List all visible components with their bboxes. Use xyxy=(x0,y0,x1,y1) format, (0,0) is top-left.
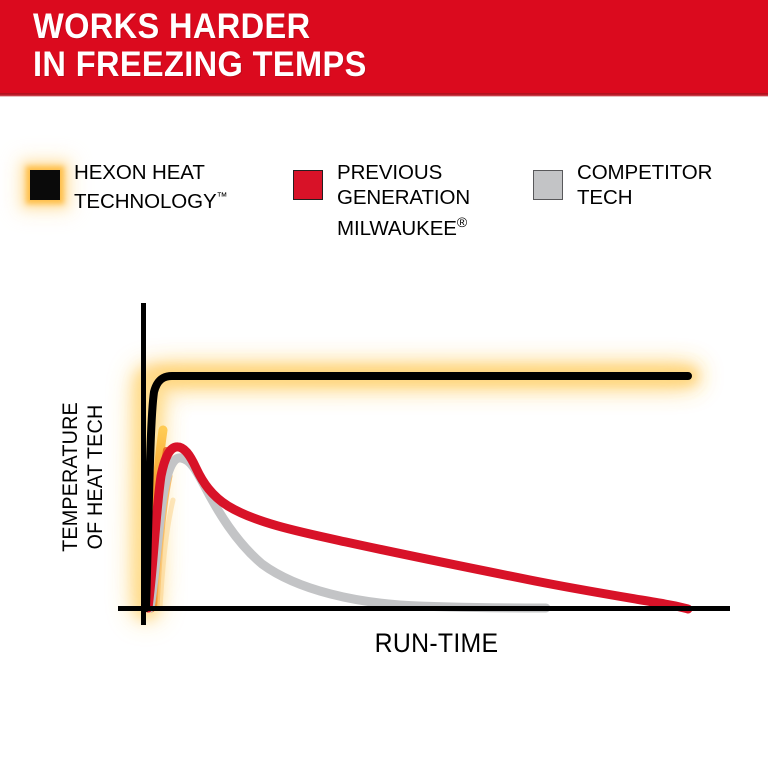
y-axis-label: TEMPERATURE OF HEAT TECH xyxy=(58,341,108,614)
legend-label-line-2: TECHNOLOGY™ xyxy=(74,185,228,214)
legend-label-hexon-heat-technology: HEXON HEAT TECHNOLOGY™ xyxy=(74,160,228,214)
legend-label-line-2: TECH xyxy=(577,185,712,210)
legend-swatch-hexon-heat-technology xyxy=(30,170,60,200)
page-title-line-1: WORKS HARDER xyxy=(33,8,684,46)
legend-item-hexon-heat-technology: HEXON HEAT TECHNOLOGY™ xyxy=(30,160,290,214)
series-line-hexon-heat-technology xyxy=(146,376,688,608)
legend-label-line-3: MILWAUKEE® xyxy=(337,210,470,241)
legend-label-competitor-tech: COMPETITOR TECH xyxy=(577,160,712,210)
y-axis-label-line-2: OF HEAT TECH xyxy=(83,341,108,614)
legend-swatch-previous-generation-milwaukee xyxy=(293,170,323,200)
header-banner-shadow xyxy=(0,93,768,97)
registered-symbol: ® xyxy=(457,214,467,230)
chart-plot xyxy=(0,280,768,680)
legend-label-previous-generation-milwaukee: PREVIOUS GENERATION MILWAUKEE® xyxy=(337,160,470,241)
chart-legend: HEXON HEAT TECHNOLOGY™ PREVIOUS GENERATI… xyxy=(0,160,768,270)
chart-container: TEMPERATURE OF HEAT TECH RUN-TIME xyxy=(0,280,768,680)
legend-label-line-1: PREVIOUS xyxy=(337,160,470,185)
y-axis-label-line-1: TEMPERATURE xyxy=(58,341,83,614)
page-title-line-2: IN FREEZING TEMPS xyxy=(33,46,684,84)
page-title: WORKS HARDER IN FREEZING TEMPS xyxy=(33,8,684,84)
legend-label-line-3-text: MILWAUKEE xyxy=(337,217,457,240)
legend-item-previous-generation-milwaukee: PREVIOUS GENERATION MILWAUKEE® xyxy=(293,160,523,241)
series-line-competitor-tech xyxy=(150,458,546,608)
trademark-symbol: ™ xyxy=(217,191,228,203)
legend-label-line-1: COMPETITOR xyxy=(577,160,712,185)
hexon-curve-glow-inner xyxy=(148,376,688,580)
x-axis-label: RUN-TIME xyxy=(166,628,706,659)
hexon-curve-glow xyxy=(145,376,690,608)
legend-swatch-competitor-tech xyxy=(533,170,563,200)
legend-label-line-1: HEXON HEAT xyxy=(74,160,228,185)
legend-item-competitor-tech: COMPETITOR TECH xyxy=(533,160,758,210)
legend-label-line-2-text: TECHNOLOGY xyxy=(74,190,217,213)
legend-label-line-2: GENERATION xyxy=(337,185,470,210)
